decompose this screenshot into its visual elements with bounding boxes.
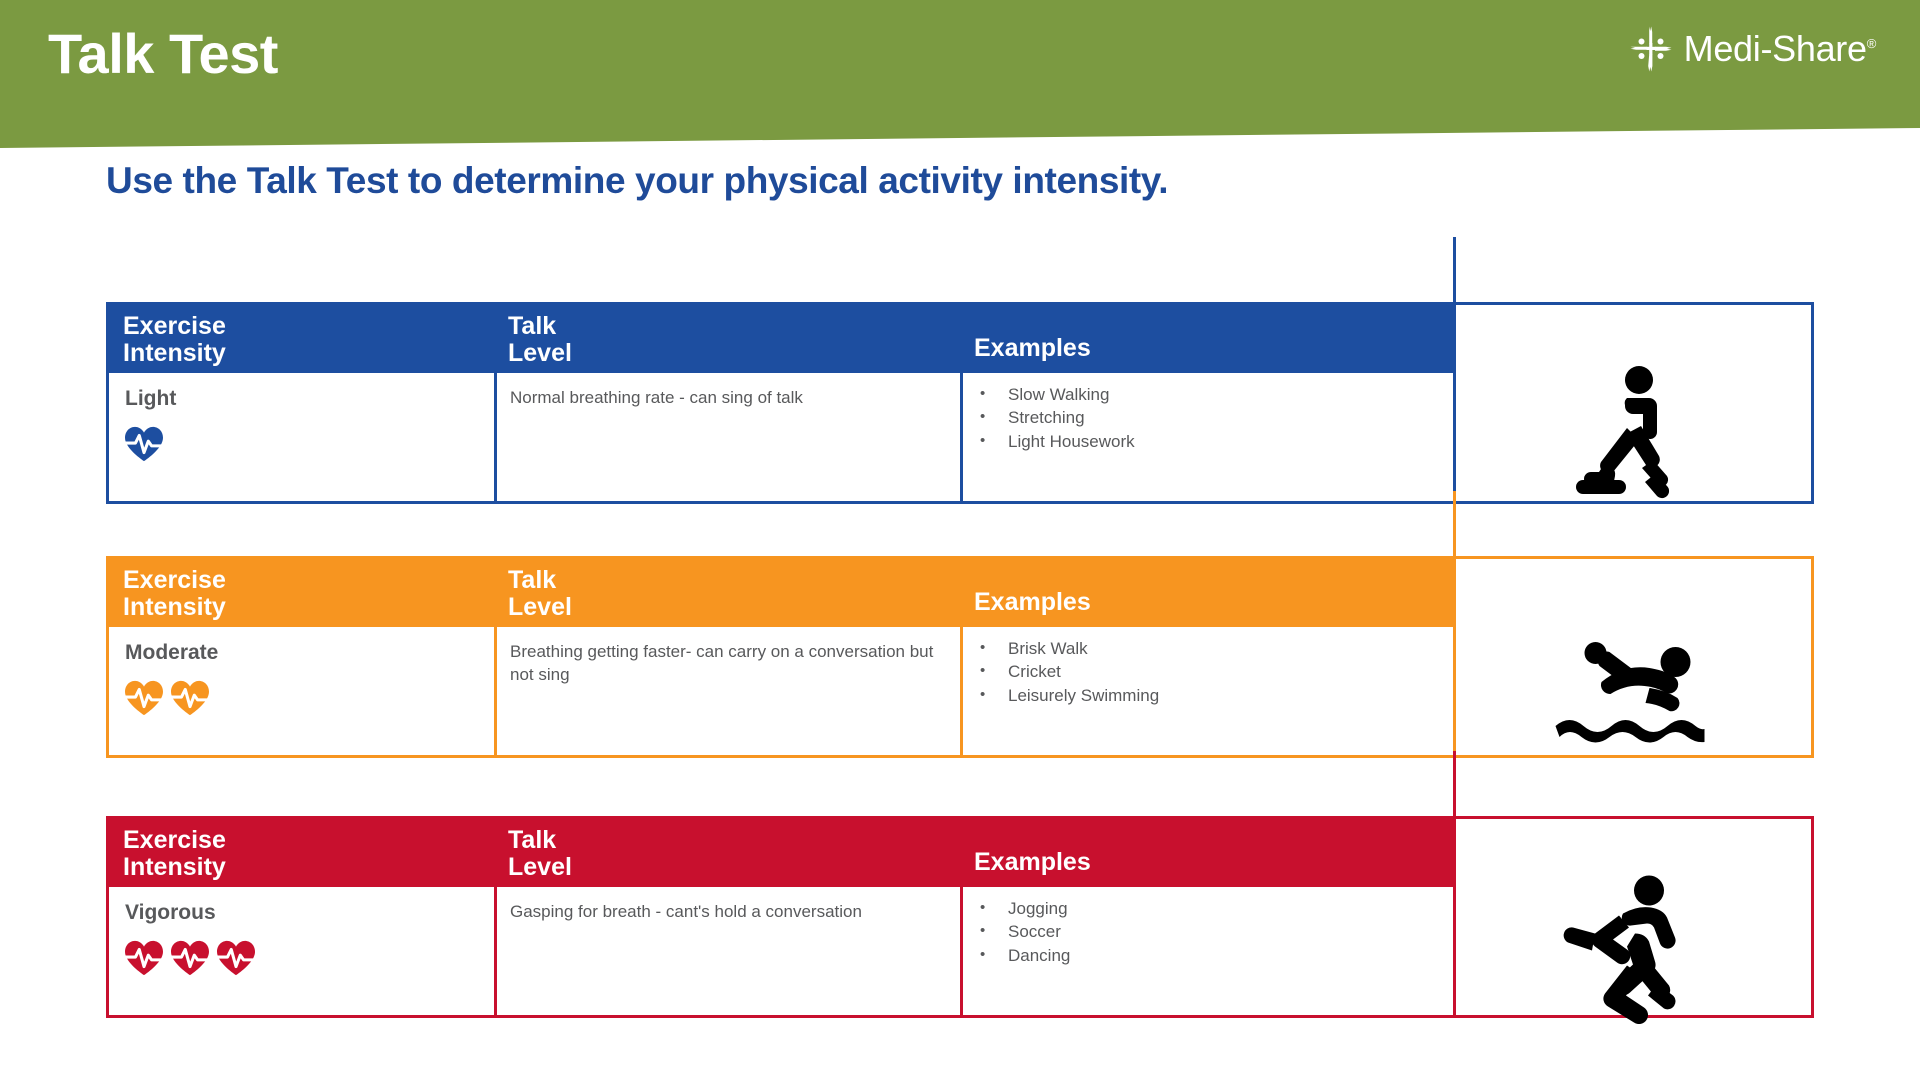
header-cell-examples: Examples: [960, 559, 1453, 627]
header-cell-intensity: Exercise Intensity: [109, 559, 494, 627]
table-header-row: Exercise Intensity Talk Level Examples: [109, 559, 1811, 627]
talk-level-text: Gasping for breath - cant's hold a conve…: [510, 901, 938, 924]
icon-divider: [1453, 305, 1456, 501]
table-body-row: Light Normal breathing rate - can sing o…: [109, 373, 1811, 501]
logo-wordmark: Medi-Share®: [1684, 31, 1876, 67]
heart-pulse-icon: [123, 939, 165, 977]
bullet-icon: •: [980, 946, 1008, 963]
example-text: Jogging: [1008, 899, 1068, 918]
icon-divider: [1453, 559, 1456, 755]
header-cell-talk: Talk Level: [494, 819, 960, 887]
header-cell-examples: Examples: [960, 305, 1453, 373]
example-text: Soccer: [1008, 922, 1061, 941]
examples-list: •Jogging •Soccer •Dancing: [980, 899, 1070, 969]
list-item: •Leisurely Swimming: [980, 686, 1159, 705]
intensity-block-vigorous: Exercise Intensity Talk Level Examples V…: [106, 816, 1814, 1018]
intensity-label: Light: [125, 387, 176, 411]
header-cell-talk: Talk Level: [494, 305, 960, 373]
list-item: •Cricket: [980, 662, 1159, 681]
page-title: Talk Test: [48, 26, 278, 82]
cell-intensity: Light: [109, 373, 494, 501]
subheading: Use the Talk Test to determine your phys…: [106, 160, 1168, 202]
header-cell-talk: Talk Level: [494, 559, 960, 627]
list-item: •Dancing: [980, 946, 1070, 965]
bullet-icon: •: [980, 662, 1008, 679]
cell-intensity: Moderate: [109, 627, 494, 755]
example-text: Light Housework: [1008, 432, 1135, 451]
column-header-intensity: Exercise Intensity: [123, 567, 226, 620]
heart-rating: [123, 425, 165, 463]
heart-pulse-icon: [169, 679, 211, 717]
intensity-block-light: Exercise Intensity Talk Level Examples L…: [106, 302, 1814, 504]
heart-pulse-icon: [123, 679, 165, 717]
heart-rating: [123, 939, 257, 977]
bullet-icon: •: [980, 899, 1008, 916]
heart-pulse-icon: [215, 939, 257, 977]
bullet-icon: •: [980, 432, 1008, 449]
logo-text: Medi-Share: [1684, 28, 1867, 69]
running-person-icon: [1557, 874, 1707, 1029]
cell-pictogram: [1453, 887, 1811, 1015]
medishare-logo: Medi-Share®: [1630, 26, 1876, 72]
heart-pulse-icon: [169, 939, 211, 977]
intensity-label: Moderate: [125, 641, 218, 665]
list-item: •Brisk Walk: [980, 639, 1159, 658]
examples-list: •Brisk Walk •Cricket •Leisurely Swimming: [980, 639, 1159, 709]
list-item: •Stretching: [980, 408, 1135, 427]
cell-pictogram: [1453, 373, 1811, 501]
bullet-icon: •: [980, 686, 1008, 703]
table-body-row: Vigorous Gasping for breath - cant's hol…: [109, 887, 1811, 1015]
bullet-icon: •: [980, 385, 1008, 402]
example-text: Slow Walking: [1008, 385, 1109, 404]
cell-pictogram: [1453, 627, 1811, 755]
heart-pulse-icon: [123, 425, 165, 463]
table-header-row: Exercise Intensity Talk Level Examples: [109, 819, 1811, 887]
bullet-icon: •: [980, 922, 1008, 939]
lunging-person-icon: [1557, 362, 1707, 512]
heart-rating: [123, 679, 211, 717]
cell-examples: •Jogging •Soccer •Dancing: [960, 887, 1453, 1015]
cell-talk-level: Normal breathing rate - can sing of talk: [494, 373, 960, 501]
examples-list: •Slow Walking •Stretching •Light Housewo…: [980, 385, 1135, 455]
column-header-talk: Talk Level: [508, 567, 572, 620]
list-item: •Soccer: [980, 922, 1070, 941]
cell-examples: •Slow Walking •Stretching •Light Housewo…: [960, 373, 1453, 501]
talk-level-text: Normal breathing rate - can sing of talk: [510, 387, 938, 410]
bullet-icon: •: [980, 639, 1008, 656]
header-cell-intensity: Exercise Intensity: [109, 819, 494, 887]
cell-talk-level: Gasping for breath - cant's hold a conve…: [494, 887, 960, 1015]
header-cell-intensity: Exercise Intensity: [109, 305, 494, 373]
column-header-examples: Examples: [974, 589, 1091, 616]
column-header-examples: Examples: [974, 849, 1091, 876]
example-text: Leisurely Swimming: [1008, 686, 1159, 705]
list-item: •Slow Walking: [980, 385, 1135, 404]
registered-mark: ®: [1867, 36, 1876, 51]
talk-level-text: Breathing getting faster- can carry on a…: [510, 641, 938, 687]
column-header-intensity: Exercise Intensity: [123, 827, 226, 880]
intensity-block-moderate: Exercise Intensity Talk Level Examples M…: [106, 556, 1814, 758]
column-header-intensity: Exercise Intensity: [123, 313, 226, 366]
medishare-cross-logo-icon: [1630, 26, 1672, 72]
list-item: •Light Housework: [980, 432, 1135, 451]
header-cell-examples: Examples: [960, 819, 1453, 887]
example-text: Brisk Walk: [1008, 639, 1088, 658]
swimmer-icon: [1550, 626, 1715, 756]
table-body-row: Moderate Breathing getting faster- can c…: [109, 627, 1811, 755]
cell-intensity: Vigorous: [109, 887, 494, 1015]
example-text: Stretching: [1008, 408, 1085, 427]
cell-examples: •Brisk Walk •Cricket •Leisurely Swimming: [960, 627, 1453, 755]
column-header-talk: Talk Level: [508, 313, 572, 366]
example-text: Cricket: [1008, 662, 1061, 681]
cell-talk-level: Breathing getting faster- can carry on a…: [494, 627, 960, 755]
header-banner: [0, 0, 1920, 148]
column-header-talk: Talk Level: [508, 827, 572, 880]
header-cell-icon: [1453, 559, 1811, 627]
example-text: Dancing: [1008, 946, 1070, 965]
table-header-row: Exercise Intensity Talk Level Examples: [109, 305, 1811, 373]
list-item: •Jogging: [980, 899, 1070, 918]
column-header-examples: Examples: [974, 335, 1091, 362]
icon-divider: [1453, 819, 1456, 1015]
intensity-label: Vigorous: [125, 901, 216, 925]
bullet-icon: •: [980, 408, 1008, 425]
